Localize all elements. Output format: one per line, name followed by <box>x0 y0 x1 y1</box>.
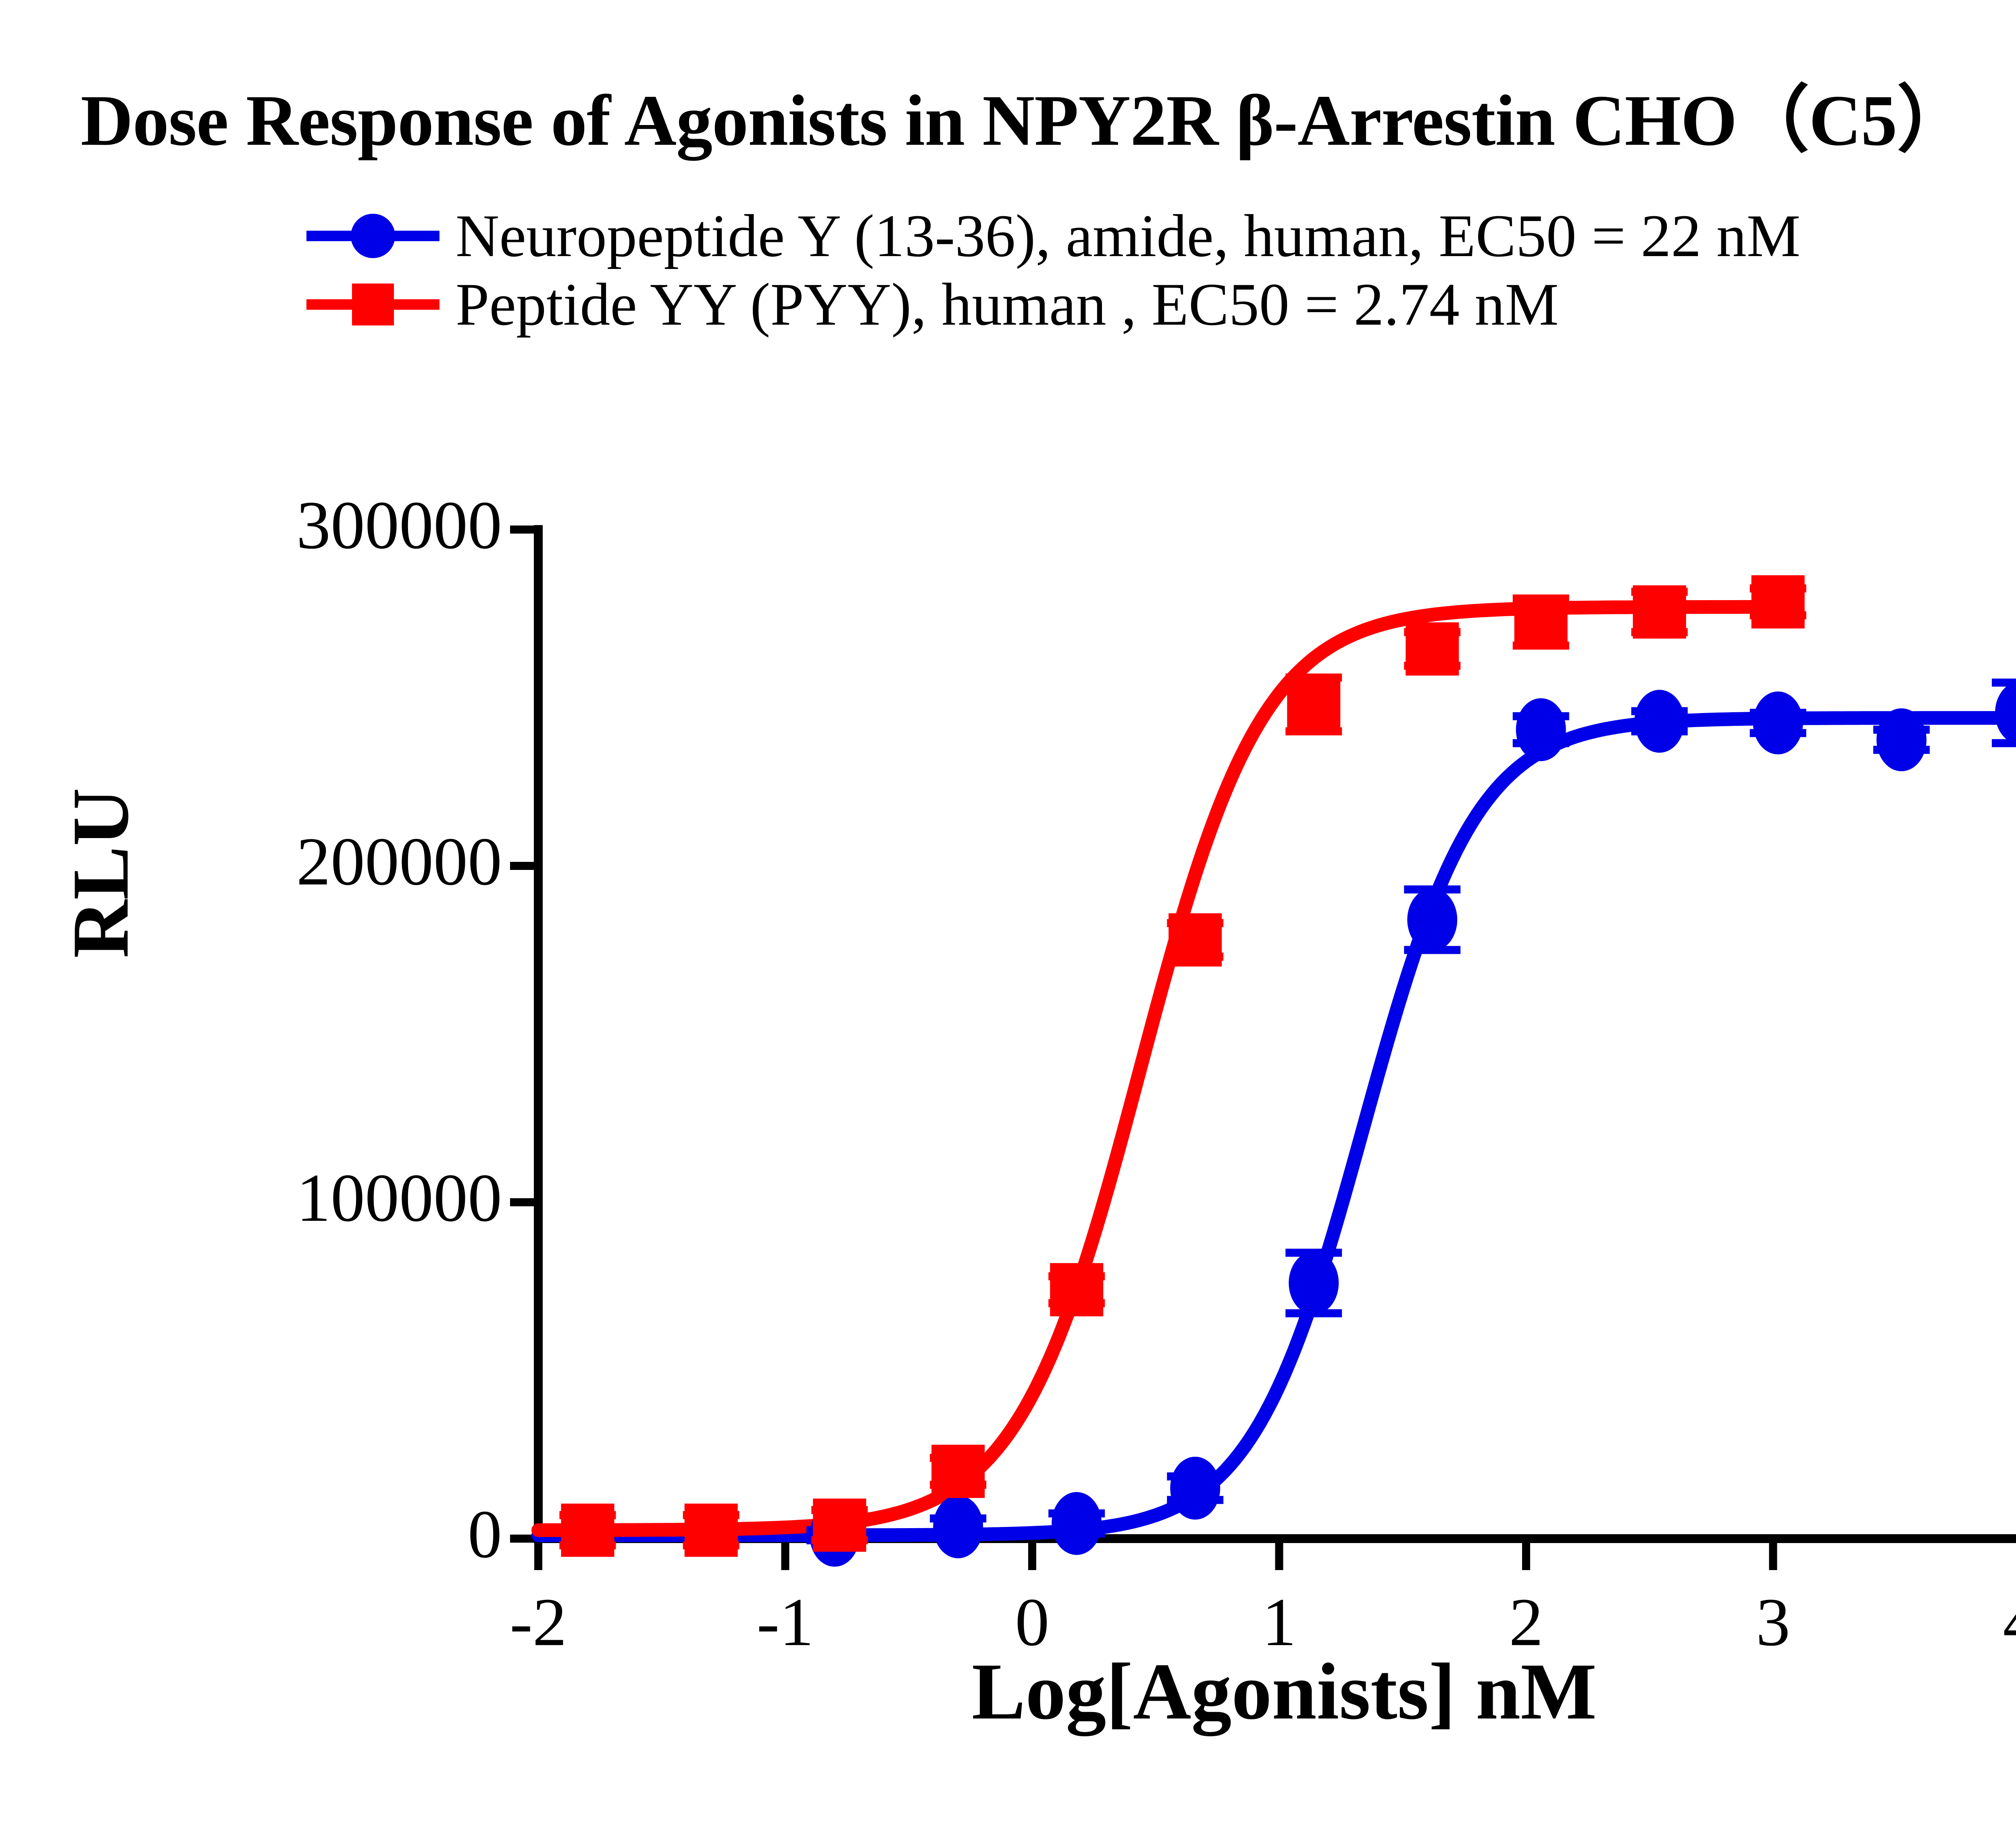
data-point-square <box>1287 678 1340 731</box>
x-tick-label: -1 <box>725 1583 846 1662</box>
x-tick-label: 2 <box>1466 1583 1587 1662</box>
x-tick-label: 3 <box>1713 1583 1834 1662</box>
data-point-square <box>931 1445 985 1498</box>
x-tick-label: 1 <box>1219 1583 1340 1662</box>
data-point-square <box>1050 1263 1103 1316</box>
x-tick-label: 0 <box>972 1583 1093 1662</box>
data-point-square <box>685 1504 738 1557</box>
x-tick-label: -2 <box>478 1583 599 1662</box>
data-point-circle <box>1876 708 1926 771</box>
data-point-circle <box>1170 1457 1220 1520</box>
curve-npy <box>538 718 2016 1535</box>
chart-page: Dose Response of Agonists in NPY2R β-Arr… <box>0 0 2016 1827</box>
data-point-circle <box>1753 692 1803 755</box>
data-point-square <box>1168 913 1222 966</box>
data-point-circle <box>1289 1251 1339 1314</box>
data-point-square <box>1752 575 1805 628</box>
data-point-square <box>561 1504 614 1557</box>
data-point-circle <box>1407 888 1457 951</box>
data-point-circle <box>1052 1492 1102 1555</box>
y-tick-label: 200000 <box>139 822 502 901</box>
curve-pyy <box>538 607 1778 1530</box>
data-point-square <box>1514 595 1568 649</box>
data-point-square <box>1633 585 1686 638</box>
y-axis-label: RLU <box>55 692 147 1055</box>
data-point-circle <box>1635 690 1685 753</box>
plot-area: RLU Log[Agonists] nM 0100000200000300000… <box>0 0 2016 1827</box>
data-point-square <box>1406 622 1459 676</box>
y-tick-label: 300000 <box>139 486 502 565</box>
data-point-circle <box>1516 698 1566 761</box>
data-point-square <box>813 1499 866 1552</box>
data-point-circle <box>1995 682 2016 745</box>
series-npy <box>806 682 2016 1567</box>
x-tick-label: 4 <box>1960 1583 2016 1662</box>
y-tick-label: 100000 <box>139 1159 502 1237</box>
data-point-circle <box>933 1495 983 1558</box>
y-tick-label: 0 <box>139 1495 502 1574</box>
